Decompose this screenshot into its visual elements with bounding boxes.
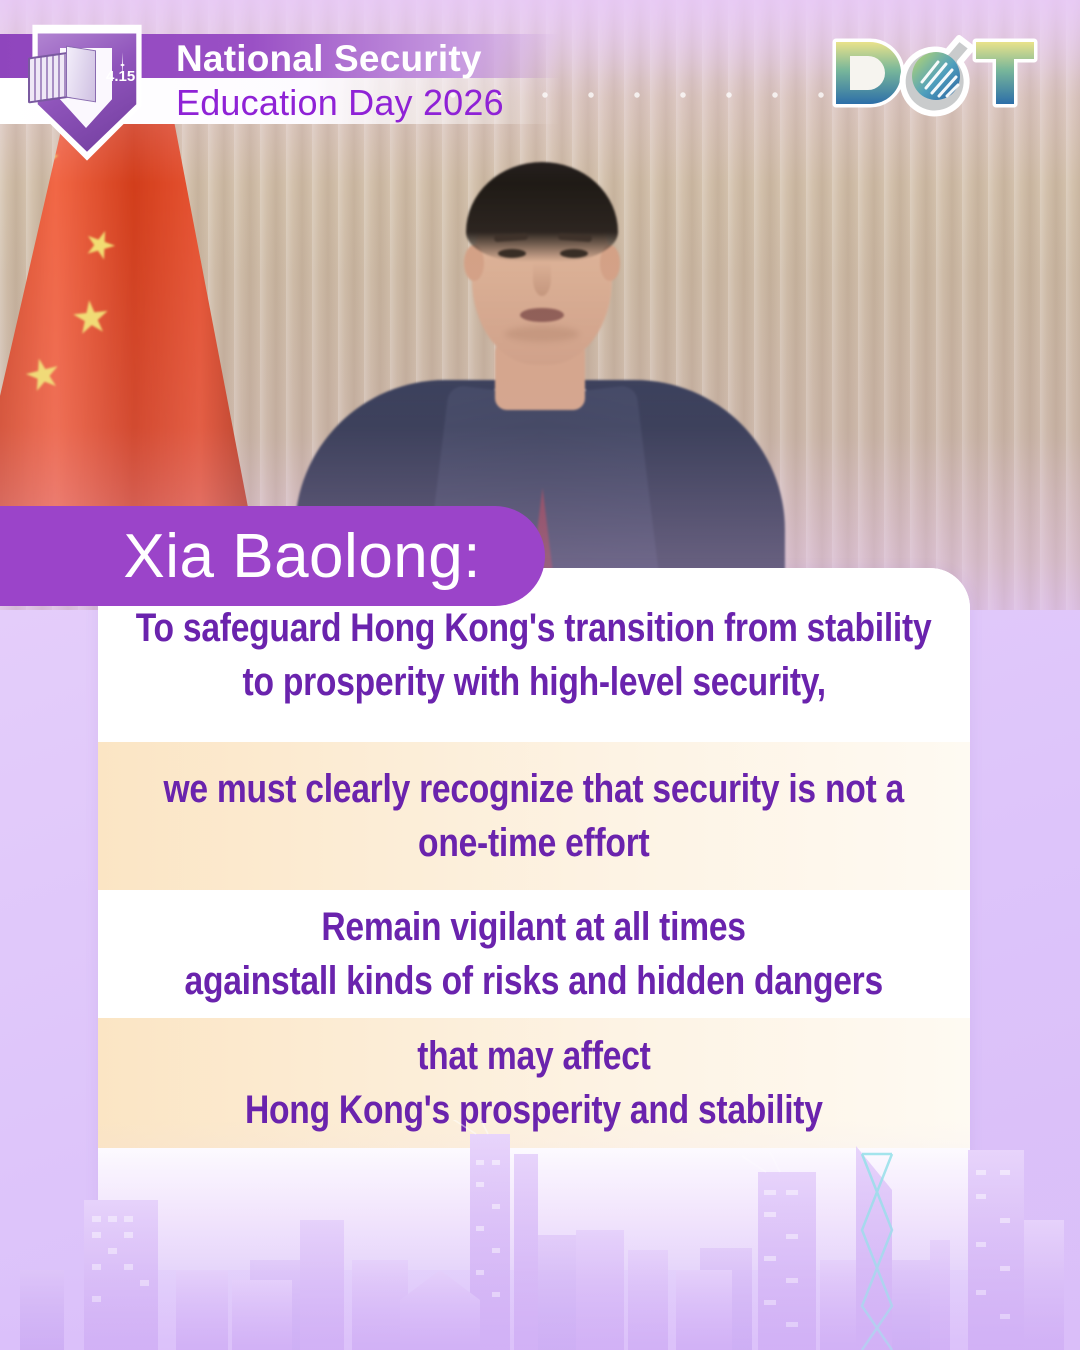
dot-logo-icon[interactable] — [828, 28, 1038, 120]
quote-line: that may affect — [417, 1029, 650, 1083]
quote-line: To safeguard Hong Kong's transition from… — [136, 601, 932, 655]
quote-line: one-time effort — [418, 816, 649, 870]
quote-line: Remain vigilant at all times — [322, 900, 746, 954]
shield-date-badge: 4.15 — [106, 68, 135, 85]
door-icon — [66, 46, 96, 103]
speaker-name-label: Xia Baolong: — [123, 521, 481, 592]
quote-line: to prosperity with high-level security, — [242, 655, 825, 709]
security-shield-icon: 4.15 — [22, 22, 152, 162]
quote-block-2: we must clearly recognize that security … — [98, 742, 970, 890]
quote-line: we must clearly recognize that security … — [164, 762, 904, 816]
header-title-line2: Education Day 2026 — [176, 82, 504, 124]
hong-kong-skyline — [0, 1120, 1080, 1350]
poster-root: National Security Education Day 2026 4.1… — [0, 0, 1080, 1350]
speaker-name-pill: Xia Baolong: — [0, 506, 545, 606]
quote-line: againstall kinds of risks and hidden dan… — [185, 954, 883, 1008]
header-title-line1: National Security — [176, 38, 482, 80]
quote-block-3: Remain vigilant at all times againstall … — [98, 890, 970, 1018]
